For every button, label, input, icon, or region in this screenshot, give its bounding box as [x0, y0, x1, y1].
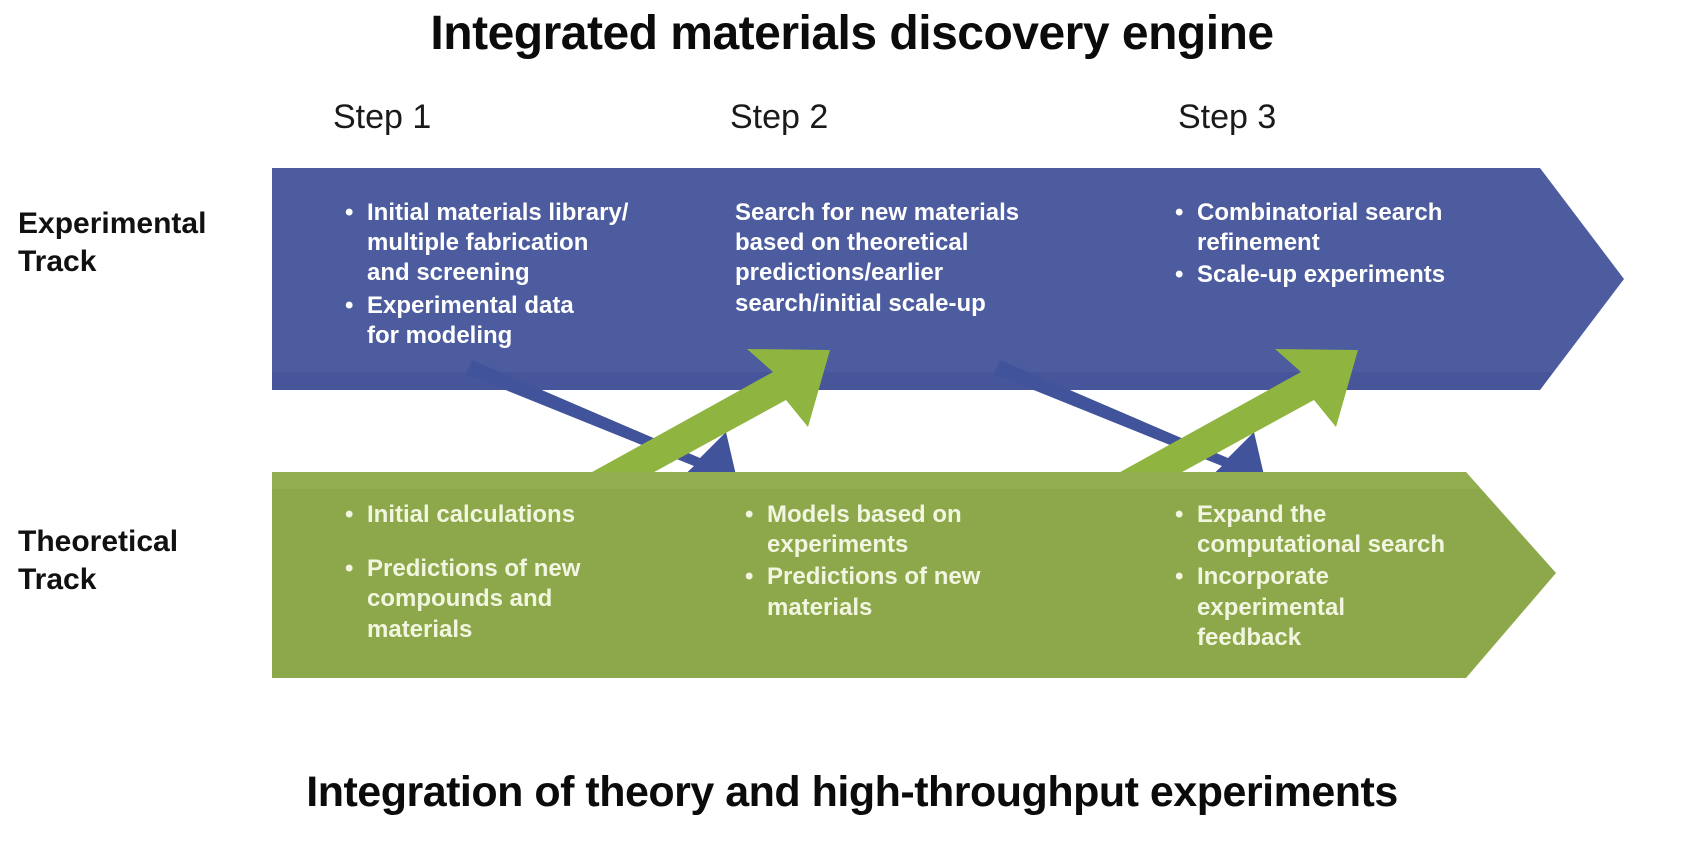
list-item-text: Initial materials library/ multiple fabr… [367, 198, 675, 289]
theoretical-track-bar-highlight [272, 472, 1480, 489]
bullet-icon: • [345, 198, 367, 228]
page-caption: Integration of theory and high-throughpu… [0, 768, 1704, 817]
list-item: • Models based on experiments [745, 500, 1075, 560]
theoretical-step1-content: • Initial calculations • Predictions of … [345, 500, 675, 647]
list-item-text: Scale-up experiments [1197, 260, 1535, 290]
paragraph-text: Search for new materials based on theore… [735, 198, 1075, 319]
experimental-step1-content: • Initial materials library/ multiple fa… [345, 198, 675, 353]
bullet-icon: • [1175, 500, 1197, 530]
list-item: • Initial calculations [345, 500, 675, 530]
bullet-icon: • [1175, 562, 1197, 592]
bullet-icon: • [345, 500, 367, 530]
list-item: • Initial materials library/ multiple fa… [345, 198, 675, 289]
bullet-icon: • [745, 500, 767, 530]
list-item-text: Experimental data for modeling [367, 291, 675, 351]
list-item: • Predictions of new materials [745, 562, 1075, 622]
experimental-track-bar-shade [272, 372, 1553, 390]
list-item: • Incorporate experimental feedback [1175, 562, 1535, 653]
bullet-icon: • [1175, 260, 1197, 290]
bullet-icon: • [1175, 198, 1197, 228]
list-item: • Combinatorial search refinement [1175, 198, 1535, 258]
experimental-step3-content: • Combinatorial search refinement • Scal… [1175, 198, 1535, 293]
bullet-icon: • [745, 562, 767, 592]
list-item-text: Predictions of new materials [767, 562, 1075, 622]
diagram-canvas: Integrated materials discovery engine St… [0, 0, 1704, 850]
list-item: • Expand the computational search [1175, 500, 1535, 560]
list-item: • Experimental data for modeling [345, 291, 675, 351]
list-item: • Predictions of new compounds and mater… [345, 554, 675, 645]
theoretical-step3-content: • Expand the computational search • Inco… [1175, 500, 1535, 655]
spacer [345, 532, 675, 554]
list-item: • Scale-up experiments [1175, 260, 1535, 290]
theoretical-step2-content: • Models based on experiments • Predicti… [745, 500, 1075, 625]
flow-shapes [0, 0, 1704, 850]
list-item-text: Initial calculations [367, 500, 675, 530]
list-item-text: Models based on experiments [767, 500, 1075, 560]
list-item-text: Expand the computational search [1197, 500, 1535, 560]
experimental-step2-content: Search for new materials based on theore… [735, 198, 1075, 319]
list-item-text: Incorporate experimental feedback [1197, 562, 1535, 653]
list-item-text: Predictions of new compounds and materia… [367, 554, 675, 645]
bullet-icon: • [345, 291, 367, 321]
bullet-icon: • [345, 554, 367, 584]
list-item-text: Combinatorial search refinement [1197, 198, 1535, 258]
